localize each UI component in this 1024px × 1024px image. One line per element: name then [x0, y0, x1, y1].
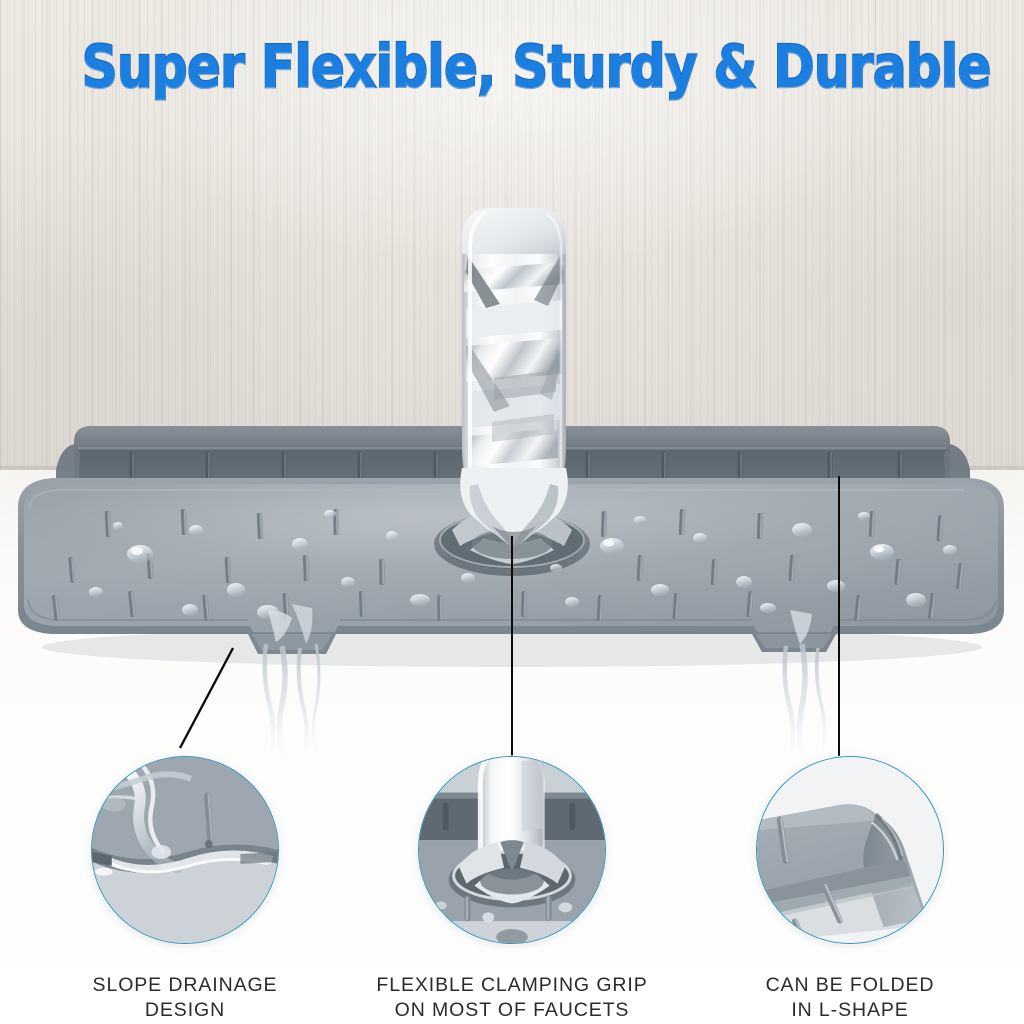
detail-circle-slope-drainage — [91, 756, 279, 944]
infographic-stage: Super Flexible, Sturdy & Durable — [0, 0, 1024, 1024]
leader-line-clamping-grip — [511, 536, 513, 756]
caption-folded-l-shape: CAN BE FOLDED IN L-SHAPE — [700, 973, 1000, 1023]
caption-folded-l-shape-line2: IN L-SHAPE — [700, 998, 1000, 1023]
caption-folded-l-shape-line1: CAN BE FOLDED — [766, 974, 935, 996]
detail-circle-folded-l-shape — [756, 756, 944, 944]
caption-slope-drainage-line1: SLOPE DRAINAGE — [93, 974, 278, 996]
leader-line-folded-l-shape — [838, 476, 840, 756]
caption-slope-drainage: SLOPE DRAINAGE DESIGN — [35, 973, 335, 1023]
faucet — [424, 196, 604, 566]
page-title: Super Flexible, Sturdy & Durable — [82, 36, 942, 98]
caption-clamping-grip-line2: ON MOST OF FAUCETS — [362, 998, 662, 1023]
caption-slope-drainage-line2: DESIGN — [35, 998, 335, 1023]
caption-clamping-grip-line1: FLEXIBLE CLAMPING GRIP — [376, 974, 647, 996]
caption-clamping-grip: FLEXIBLE CLAMPING GRIP ON MOST OF FAUCET… — [362, 973, 662, 1023]
detail-circle-clamping-grip — [418, 756, 606, 944]
